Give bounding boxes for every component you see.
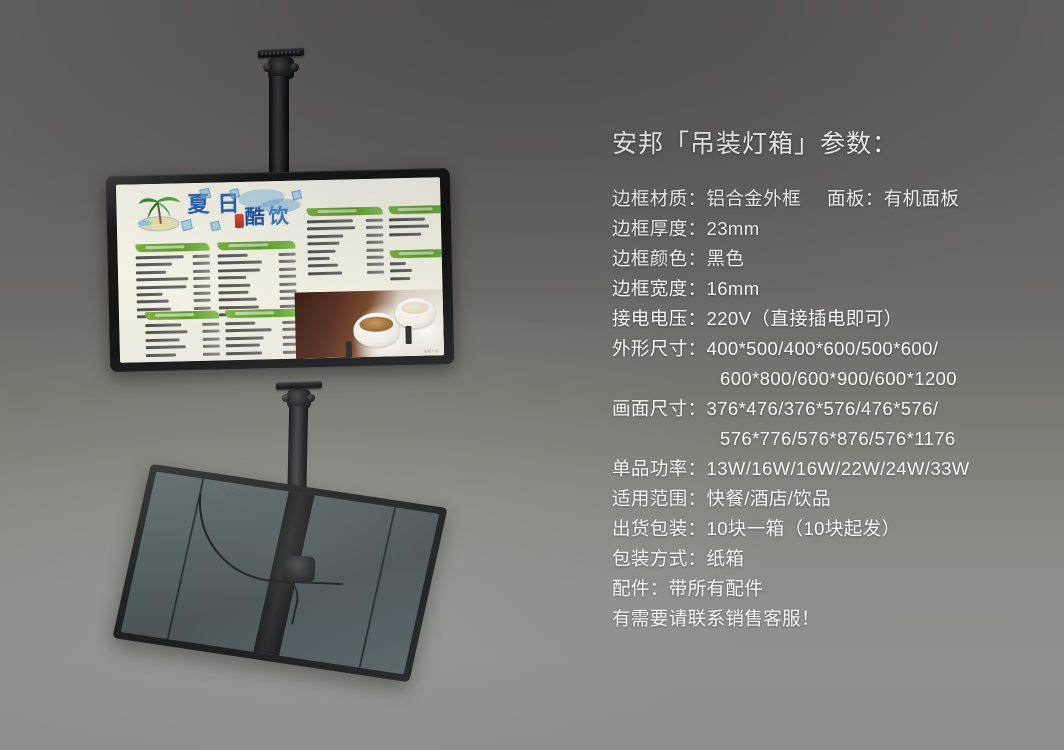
lightbox-front: 夏 日 酷 饮 [106, 168, 455, 372]
spec-frame-thickness: 边框厚度：23mm [612, 214, 1052, 244]
menu-row [145, 329, 219, 336]
spec-power: 单品功率：13W/16W/16W/22W/24W/33W [612, 454, 1052, 484]
menu-row [219, 296, 297, 303]
mount-pole-upper [269, 76, 289, 178]
swivel-knob-upper-left [263, 63, 272, 72]
menu-section-2-header [217, 241, 295, 251]
coffee-stirrer-1 [346, 341, 352, 357]
menu-row [307, 240, 383, 247]
menu-row [225, 327, 299, 334]
menu-row [146, 351, 220, 358]
menu-row [218, 252, 296, 259]
menu-row [137, 298, 211, 305]
menu-row [136, 261, 210, 268]
menu-section-6-header [389, 205, 445, 215]
menu-row [389, 223, 444, 230]
menu-row [307, 218, 383, 225]
menu-section-3-items [145, 321, 220, 357]
menu-row [136, 254, 210, 261]
menu-section-1-header [135, 243, 209, 253]
spec-frame-color: 边框颜色：黑色 [612, 244, 1052, 274]
menu-row [145, 321, 219, 328]
menu-row [307, 225, 383, 232]
coffee-stirrer-2 [405, 326, 411, 344]
menu-row [136, 283, 210, 290]
menu-row [389, 216, 444, 223]
lightbox-rear-view [112, 464, 447, 683]
menu-section-7-header [390, 249, 444, 259]
spec-contact: 有需要请联系销售客服！ [612, 604, 1052, 634]
spec-outer-size-continued: 600*800/600*900/600*1200 [612, 364, 1052, 394]
menu-section-5-items [307, 218, 384, 277]
poster-watermark: 安邦广告 [424, 348, 439, 353]
menu-row [226, 342, 300, 349]
menu-section-2-items [218, 252, 297, 318]
menu-row [308, 269, 384, 276]
swivel-knob-lower-right [307, 394, 315, 402]
spec-shipping-package: 出货包装：10块一箱（10块起发） [612, 514, 1052, 544]
lightbox-panel: 夏 日 酷 饮 [116, 177, 444, 363]
menu-section-7-items [390, 260, 444, 281]
ice-cube-1 [199, 188, 211, 200]
menu-section-5 [307, 207, 385, 279]
menu-row [218, 289, 296, 296]
menu-row [226, 349, 300, 356]
spec-applications: 适用范围：快餐/酒店/饮品 [612, 484, 1052, 514]
menu-row [389, 231, 444, 238]
spec-frame-width: 边框宽度：16mm [612, 274, 1052, 304]
spec-frame-material-row: 边框材质：铝合金外框面板：有机面板 [612, 184, 1052, 214]
menu-poster: 夏 日 酷 饮 [116, 177, 444, 363]
rear-mount-clamp [283, 555, 316, 582]
menu-section-4-header [225, 309, 299, 319]
drink-cup-icon [235, 214, 244, 228]
spec-packing-method: 包装方式：纸箱 [612, 544, 1052, 574]
spec-outer-size: 外形尺寸：400*500/400*600/500*600/ [612, 334, 1052, 364]
menu-row [218, 274, 296, 281]
menu-row [308, 262, 384, 269]
latte-foam [401, 302, 429, 315]
ice-cube-5 [291, 190, 302, 201]
menu-row [225, 320, 299, 327]
menu-row [136, 276, 210, 283]
spec-picture-size-continued: 576*776/576*876/576*1176 [612, 424, 1052, 454]
menu-row [307, 232, 383, 239]
menu-row [390, 267, 444, 274]
menu-section-1-items [136, 254, 211, 320]
menu-section-6 [389, 205, 445, 240]
menu-section-4 [225, 309, 300, 359]
ice-cube-4 [210, 221, 221, 232]
menu-row [226, 334, 300, 341]
menu-row [136, 268, 210, 275]
menu-row [308, 247, 384, 254]
menu-row [218, 259, 296, 266]
coffee-cup-back [395, 297, 436, 328]
coffee-photo [295, 289, 445, 358]
specification-panel: 安邦「吊装灯箱」参数： 边框材质：铝合金外框面板：有机面板 边框厚度：23mm … [612, 124, 1052, 634]
menu-row [390, 260, 444, 267]
menu-row [308, 255, 384, 262]
product-spec-image: 夏 日 酷 饮 [0, 0, 1064, 750]
coffee-cup-front [353, 312, 400, 347]
menu-section-6-items [389, 216, 444, 237]
water-splash-2 [260, 199, 300, 214]
menu-section-3-header [145, 310, 219, 320]
spec-frame-material: 边框材质：铝合金外框 [612, 188, 801, 209]
poster-title-artwork: 夏 日 酷 饮 [134, 186, 307, 236]
menu-row [390, 275, 444, 282]
swivel-knob-lower-left [282, 394, 290, 402]
rear-panel-seam-right [358, 507, 397, 668]
menu-row [146, 336, 220, 343]
page-title: 安邦「吊装灯箱」参数： [612, 124, 1052, 160]
spec-voltage: 接电电压：220V（直接插电即可） [612, 304, 1052, 334]
coffee-liquid [359, 316, 393, 332]
menu-row [218, 281, 296, 288]
power-cable [190, 493, 353, 585]
spec-panel-material: 面板：有机面板 [827, 188, 959, 209]
menu-row [146, 344, 220, 351]
menu-row [218, 266, 296, 273]
spec-picture-size: 画面尺寸：376*476/376*576/476*576/ [612, 394, 1052, 424]
menu-row [136, 291, 210, 298]
product-photo: 夏 日 酷 饮 [0, 0, 560, 750]
menu-section-4-items [225, 320, 300, 356]
swivel-knob-upper-right [290, 63, 299, 72]
spec-accessories: 配件：带所有配件 [612, 574, 1052, 604]
menu-section-5-header [307, 207, 383, 217]
menu-section-3 [145, 310, 220, 360]
menu-section-7 [390, 249, 444, 284]
